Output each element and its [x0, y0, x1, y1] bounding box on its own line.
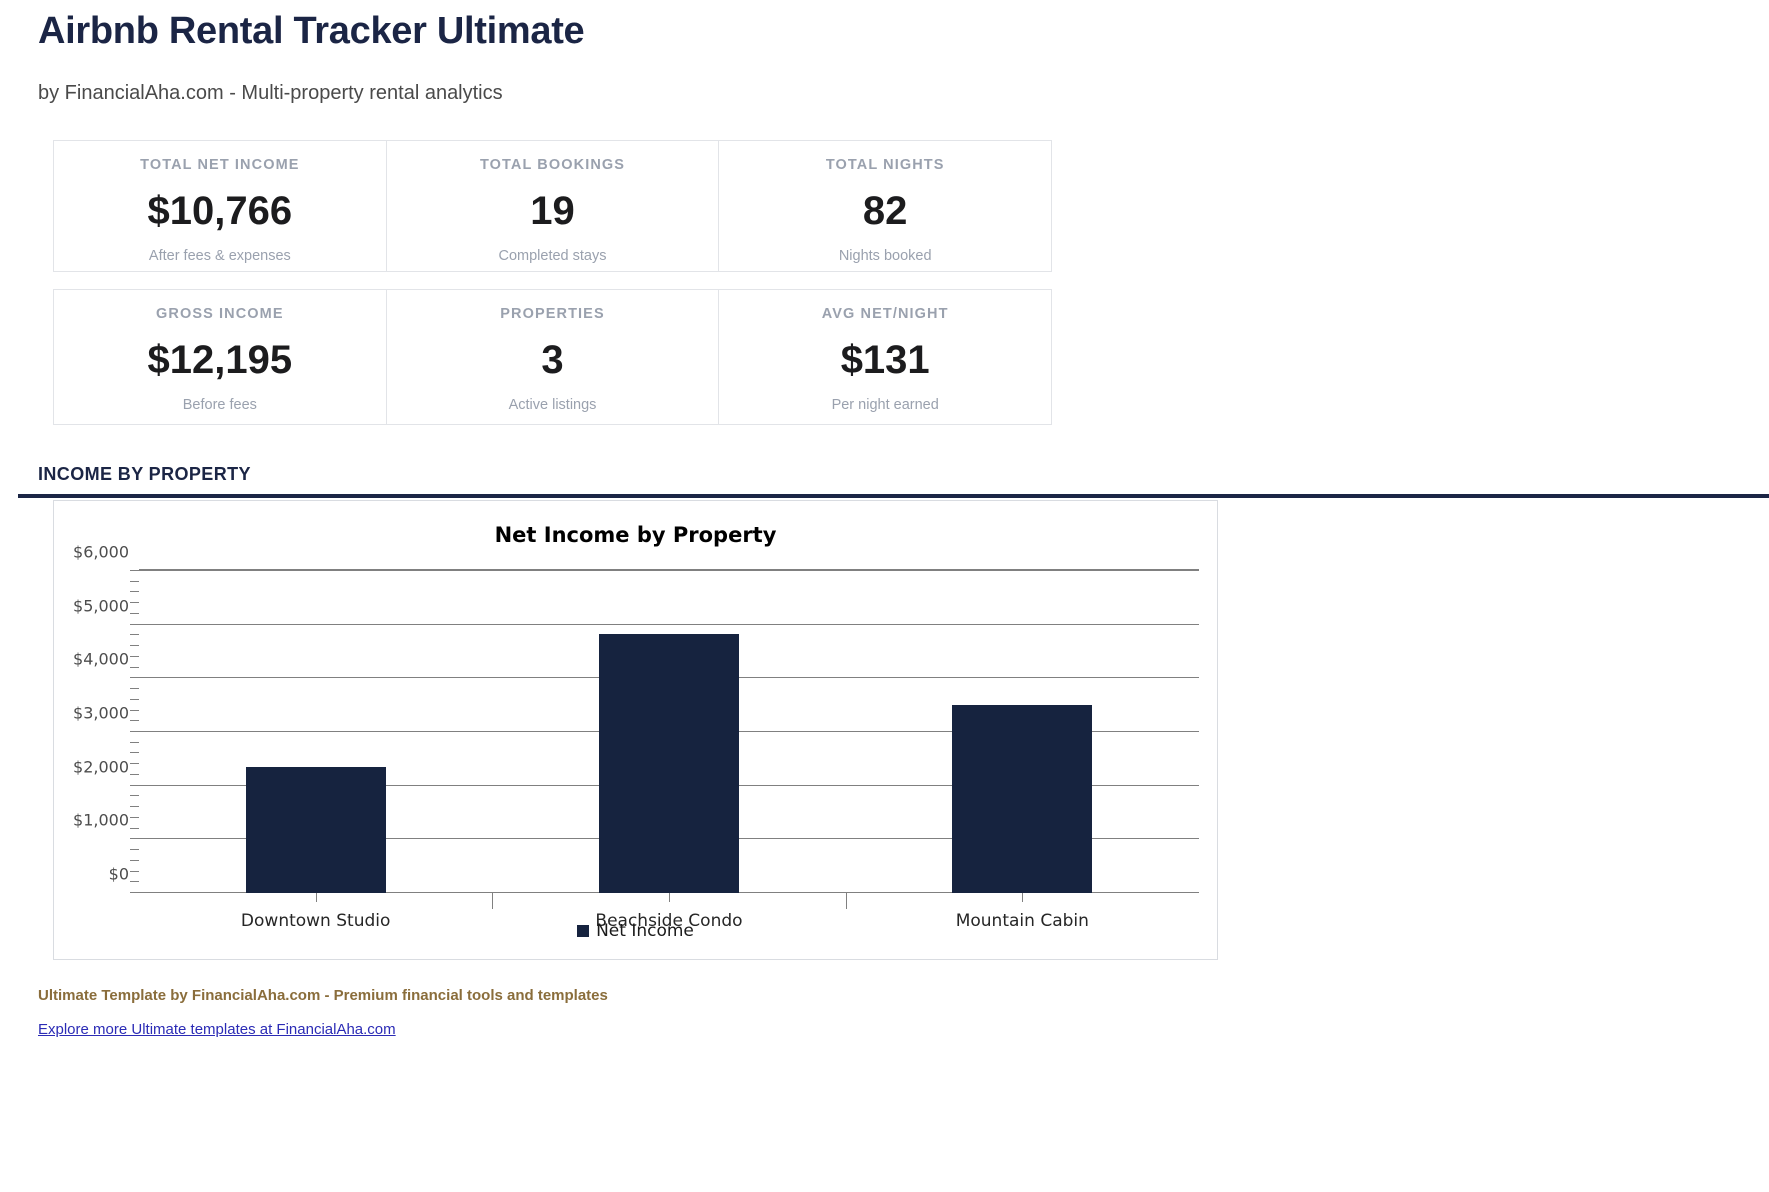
chart-legend: Net Income — [54, 921, 1217, 941]
chart-bar-group: Downtown Studio — [139, 571, 492, 893]
chart-bars-layer: Downtown StudioBeachside CondoMountain C… — [139, 571, 1199, 893]
y-axis-tick-label: $6,000 — [73, 543, 129, 562]
kpi-card-gross-income: GROSS INCOME $12,195 Before fees — [54, 290, 387, 424]
kpi-subtext: Per night earned — [719, 396, 1051, 414]
kpi-card-total-nights: TOTAL NIGHTS 82 Nights booked — [719, 141, 1051, 271]
y-axis-minor-tick — [130, 613, 139, 614]
kpi-subtext: After fees & expenses — [54, 247, 386, 265]
y-axis-minor-tick — [130, 871, 139, 872]
kpi-subtext: Active listings — [387, 396, 719, 414]
y-axis-minor-tick — [130, 806, 139, 807]
section-divider — [18, 494, 1769, 498]
legend-label: Net Income — [596, 921, 694, 941]
chart-bar-group: Mountain Cabin — [846, 571, 1199, 893]
kpi-card-properties: PROPERTIES 3 Active listings — [387, 290, 720, 424]
y-axis-minor-tick — [130, 720, 139, 721]
kpi-subtext: Completed stays — [387, 247, 719, 265]
kpi-row-primary: TOTAL NET INCOME $10,766 After fees & ex… — [53, 140, 1052, 272]
kpi-label: TOTAL NET INCOME — [54, 155, 386, 175]
y-axis-minor-tick — [130, 667, 139, 668]
y-axis-tick-label: $0 — [109, 865, 129, 884]
kpi-label: TOTAL BOOKINGS — [387, 155, 719, 175]
y-axis-minor-tick — [130, 742, 139, 743]
y-axis-minor-tick — [130, 656, 139, 657]
chart-bar[interactable] — [246, 767, 386, 893]
chart-bar[interactable] — [952, 705, 1092, 893]
y-axis-minor-tick — [130, 817, 139, 818]
y-axis-minor-tick — [130, 645, 139, 646]
kpi-label: AVG NET/NIGHT — [719, 304, 1051, 324]
kpi-value: $131 — [719, 336, 1051, 384]
y-axis-minor-tick — [130, 763, 139, 764]
y-axis-major-tick — [130, 731, 139, 732]
x-axis-category-separator — [846, 893, 847, 909]
chart-bar-group: Beachside Condo — [492, 571, 845, 893]
kpi-card-total-net-income: TOTAL NET INCOME $10,766 After fees & ex… — [54, 141, 387, 271]
y-axis-major-tick — [130, 892, 139, 893]
legend-swatch-icon — [577, 925, 589, 937]
x-axis-category-separator — [492, 893, 493, 909]
y-axis-minor-tick — [130, 688, 139, 689]
chart-plot-area: $0$1,000$2,000$3,000$4,000$5,000$6,000 D… — [139, 571, 1199, 893]
y-axis-major-tick — [130, 785, 139, 786]
chart-panel-net-income-by-property: Net Income by Property $0$1,000$2,000$3,… — [53, 500, 1218, 960]
kpi-subtext: Nights booked — [719, 247, 1051, 265]
y-axis-minor-tick — [130, 881, 139, 882]
y-axis-minor-tick — [130, 828, 139, 829]
dashboard-page: Airbnb Rental Tracker Ultimate by Financ… — [0, 0, 1769, 1192]
y-axis-minor-tick — [130, 795, 139, 796]
kpi-card-avg-net-per-night: AVG NET/NIGHT $131 Per night earned — [719, 290, 1051, 424]
y-axis-tick-label: $1,000 — [73, 811, 129, 830]
x-axis-tick — [1022, 893, 1023, 902]
y-axis-major-tick — [130, 677, 139, 678]
y-axis-tick-label: $3,000 — [73, 704, 129, 723]
footer-note: Ultimate Template by FinancialAha.com - … — [38, 987, 608, 1004]
y-axis-minor-tick — [130, 581, 139, 582]
footer-link[interactable]: Explore more Ultimate templates at Finan… — [38, 1021, 396, 1038]
kpi-label: PROPERTIES — [387, 304, 719, 324]
page-title: Airbnb Rental Tracker Ultimate — [38, 10, 584, 53]
kpi-subtext: Before fees — [54, 396, 386, 414]
section-title-income-by-property: INCOME BY PROPERTY — [38, 464, 251, 485]
kpi-value: 19 — [387, 187, 719, 235]
kpi-card-total-bookings: TOTAL BOOKINGS 19 Completed stays — [387, 141, 720, 271]
y-axis-minor-tick — [130, 774, 139, 775]
y-axis-tick-label: $2,000 — [73, 757, 129, 776]
y-axis-major-tick — [130, 570, 139, 571]
y-axis-tick-label: $5,000 — [73, 596, 129, 615]
chart-bar[interactable] — [599, 634, 739, 893]
kpi-value: $10,766 — [54, 187, 386, 235]
y-axis-minor-tick — [130, 699, 139, 700]
y-axis-minor-tick — [130, 849, 139, 850]
y-axis-major-tick — [130, 838, 139, 839]
y-axis-minor-tick — [130, 602, 139, 603]
kpi-value: 82 — [719, 187, 1051, 235]
kpi-value: $12,195 — [54, 336, 386, 384]
chart-title: Net Income by Property — [54, 523, 1217, 547]
y-axis-tick-label: $4,000 — [73, 650, 129, 669]
y-axis-minor-tick — [130, 752, 139, 753]
x-axis-tick — [316, 893, 317, 902]
kpi-value: 3 — [387, 336, 719, 384]
kpi-row-secondary: GROSS INCOME $12,195 Before fees PROPERT… — [53, 289, 1052, 425]
kpi-label: GROSS INCOME — [54, 304, 386, 324]
y-axis-minor-tick — [130, 860, 139, 861]
y-axis-minor-tick — [130, 634, 139, 635]
y-axis-minor-tick — [130, 710, 139, 711]
kpi-label: TOTAL NIGHTS — [719, 155, 1051, 175]
y-axis-minor-tick — [130, 591, 139, 592]
x-axis-tick — [669, 893, 670, 902]
page-subtitle: by FinancialAha.com - Multi-property ren… — [38, 82, 503, 105]
y-axis-major-tick — [130, 624, 139, 625]
